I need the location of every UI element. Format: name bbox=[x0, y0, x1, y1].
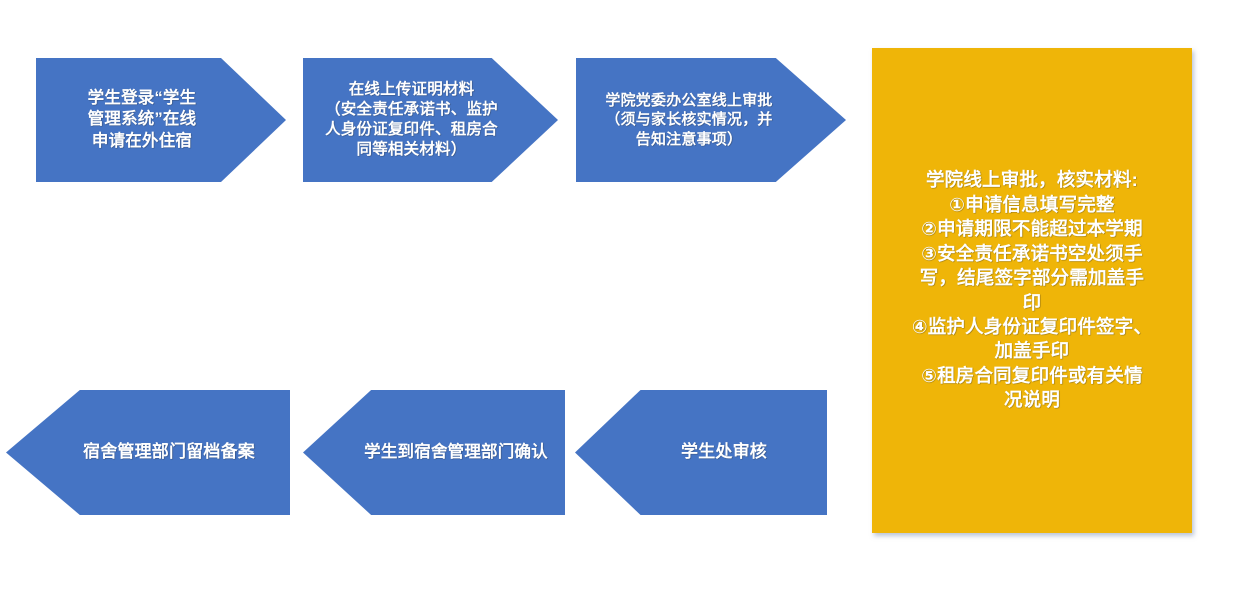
flow-step-label: 学院党委办公室线上审批 （须与家长核实情况，并 告知注意事项） bbox=[599, 91, 822, 150]
flow-step-label: 学生登录“学生 管理系统”在线 申请在外住宿 bbox=[82, 88, 241, 152]
flow-step-label: 学生处审核 bbox=[629, 441, 773, 463]
flow-step-label: 在线上传证明材料 （安全责任承诺书、监护 人身份证复印件、租房合 同等相关材料） bbox=[319, 80, 542, 161]
flow-step-dorm-archive[interactable]: 宿舍管理部门留档备案 bbox=[6, 390, 290, 515]
college-review-details-text: 学院线上审批，核实材料: ①申请信息填写完整 ②申请期限不能超过本学期 ③安全责… bbox=[904, 168, 1160, 412]
flow-step-dorm-confirm[interactable]: 学生到宿舍管理部门确认 bbox=[303, 390, 565, 515]
college-review-details-panel[interactable]: 学院线上审批，核实材料: ①申请信息填写完整 ②申请期限不能超过本学期 ③安全责… bbox=[872, 48, 1192, 533]
flow-step-label: 宿舍管理部门留档备案 bbox=[35, 441, 261, 463]
flow-step-college-party-office-approval[interactable]: 学院党委办公室线上审批 （须与家长核实情况，并 告知注意事项） bbox=[576, 58, 846, 182]
flow-step-label: 学生到宿舍管理部门确认 bbox=[314, 442, 554, 463]
flow-step-upload-materials[interactable]: 在线上传证明材料 （安全责任承诺书、监护 人身份证复印件、租房合 同等相关材料） bbox=[303, 58, 558, 182]
flowchart-canvas: 学生登录“学生 管理系统”在线 申请在外住宿 在线上传证明材料 （安全责任承诺书… bbox=[0, 0, 1234, 594]
flow-step-student-affairs-review[interactable]: 学生处审核 bbox=[575, 390, 827, 515]
flow-step-student-login[interactable]: 学生登录“学生 管理系统”在线 申请在外住宿 bbox=[36, 58, 286, 182]
